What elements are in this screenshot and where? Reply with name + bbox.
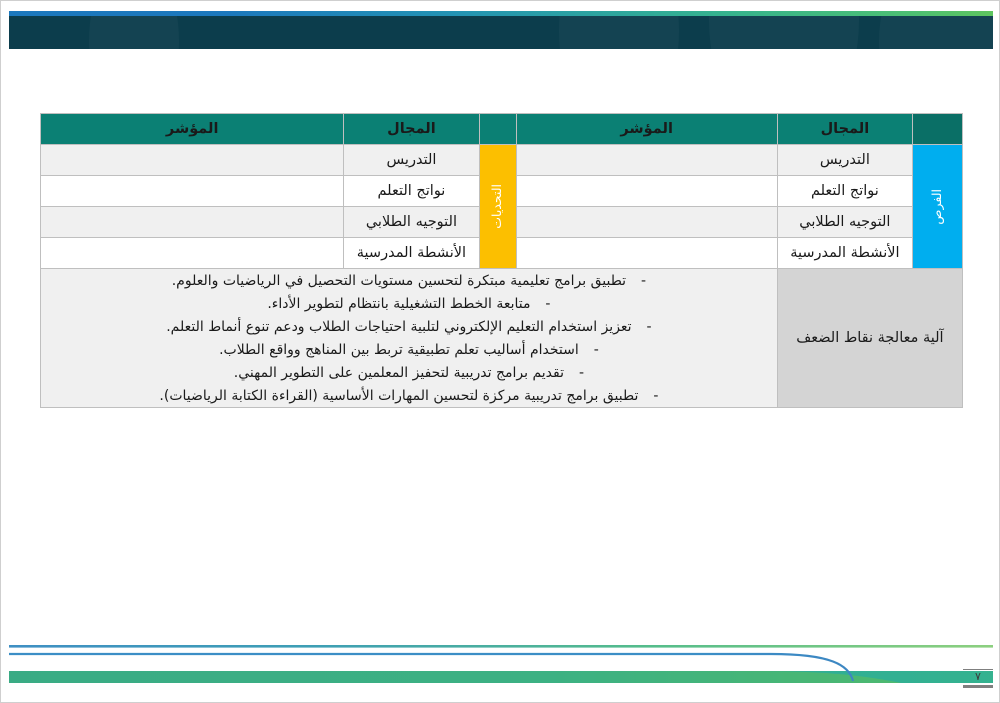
list-item: -استخدام أساليب تعلم تطبيقية تربط بين ال… xyxy=(41,338,777,361)
header-blob-decoration xyxy=(709,16,859,49)
header-cell-domain-left: المجال xyxy=(344,114,479,145)
list-item: -متابعة الخطط التشغيلية بانتظام لتطوير ا… xyxy=(41,292,777,315)
header-blob-decoration xyxy=(879,16,993,49)
header-blob-decoration xyxy=(559,16,679,49)
cell-indicator[interactable] xyxy=(41,207,344,238)
table-header-row: المجال المؤشر المجال المؤشر xyxy=(41,114,963,145)
vertical-label-challenges: التحديات xyxy=(479,145,516,269)
bullet-dash: - xyxy=(585,343,599,357)
footer-decoration xyxy=(1,631,1000,703)
cell-indicator[interactable] xyxy=(516,238,777,269)
list-item: -تطبيق برامج تعليمية مبتكرة لتحسين مستوي… xyxy=(41,269,777,292)
list-item-text: تقديم برامج تدريبية لتحفيز المعلمين على … xyxy=(234,365,564,381)
header-dark-band xyxy=(9,16,993,49)
cell-domain: التوجيه الطلابي xyxy=(344,207,479,238)
cell-domain: الأنشطة المدرسية xyxy=(344,238,479,269)
list-item-text: استخدام أساليب تعلم تطبيقية تربط بين الم… xyxy=(219,342,579,358)
header-cell-indicator-left: المؤشر xyxy=(41,114,344,145)
cell-domain: نواتج التعلم xyxy=(344,176,479,207)
header-cell-opportunities-spacer xyxy=(912,114,962,145)
mechanism-bullets-cell: -تطبيق برامج تعليمية مبتكرة لتحسين مستوي… xyxy=(41,269,778,408)
list-item: -تقديم برامج تدريبية لتحفيز المعلمين على… xyxy=(41,361,777,384)
mechanism-bullet-list: -تطبيق برامج تعليمية مبتكرة لتحسين مستوي… xyxy=(41,269,777,407)
cell-domain: التدريس xyxy=(777,145,912,176)
list-item-text: متابعة الخطط التشغيلية بانتظام لتطوير ال… xyxy=(267,296,530,312)
cell-domain: التدريس xyxy=(344,145,479,176)
cell-indicator[interactable] xyxy=(41,238,344,269)
mechanism-row: آلية معالجة نقاط الضعف -تطبيق برامج تعلي… xyxy=(41,269,963,408)
header-cell-challenges-spacer xyxy=(479,114,516,145)
list-item: -تعزيز استخدام التعليم الإلكتروني لتلبية… xyxy=(41,315,777,338)
cell-indicator[interactable] xyxy=(41,145,344,176)
vertical-label-opportunities: الفرص xyxy=(912,145,962,269)
cell-domain: الأنشطة المدرسية xyxy=(777,238,912,269)
bullet-dash: - xyxy=(570,366,584,380)
cell-indicator[interactable] xyxy=(516,207,777,238)
slide-canvas: المجال المؤشر المجال المؤشر الفرص التدري… xyxy=(0,0,1000,703)
page-number: ٧ xyxy=(963,669,993,688)
list-item-text: تطبيق برامج تدريبية مركزة لتحسين المهارا… xyxy=(159,388,638,404)
cell-domain: نواتج التعلم xyxy=(777,176,912,207)
list-item-text: تعزيز استخدام التعليم الإلكتروني لتلبية … xyxy=(166,319,631,335)
list-item-text: تطبيق برامج تعليمية مبتكرة لتحسين مستويا… xyxy=(172,273,626,289)
list-item: -تطبيق برامج تدريبية مركزة لتحسين المهار… xyxy=(41,384,777,407)
header-cell-indicator-right: المؤشر xyxy=(516,114,777,145)
footer-swoosh-svg xyxy=(1,631,1000,703)
header-blob-decoration xyxy=(89,16,179,49)
bullet-dash: - xyxy=(632,274,646,288)
cell-indicator[interactable] xyxy=(516,176,777,207)
bullet-dash: - xyxy=(638,320,652,334)
cell-indicator[interactable] xyxy=(41,176,344,207)
cell-indicator[interactable] xyxy=(516,145,777,176)
table-row: الفرص التدريس التحديات التدريس xyxy=(41,145,963,176)
cell-domain: التوجيه الطلابي xyxy=(777,207,912,238)
header-cell-domain-right: المجال xyxy=(777,114,912,145)
bullet-dash: - xyxy=(536,297,550,311)
bullet-dash: - xyxy=(644,389,658,403)
comparison-table-wrapper: المجال المؤشر المجال المؤشر الفرص التدري… xyxy=(40,113,963,408)
mechanism-label: آلية معالجة نقاط الضعف xyxy=(777,269,962,408)
comparison-table: المجال المؤشر المجال المؤشر الفرص التدري… xyxy=(40,113,963,408)
